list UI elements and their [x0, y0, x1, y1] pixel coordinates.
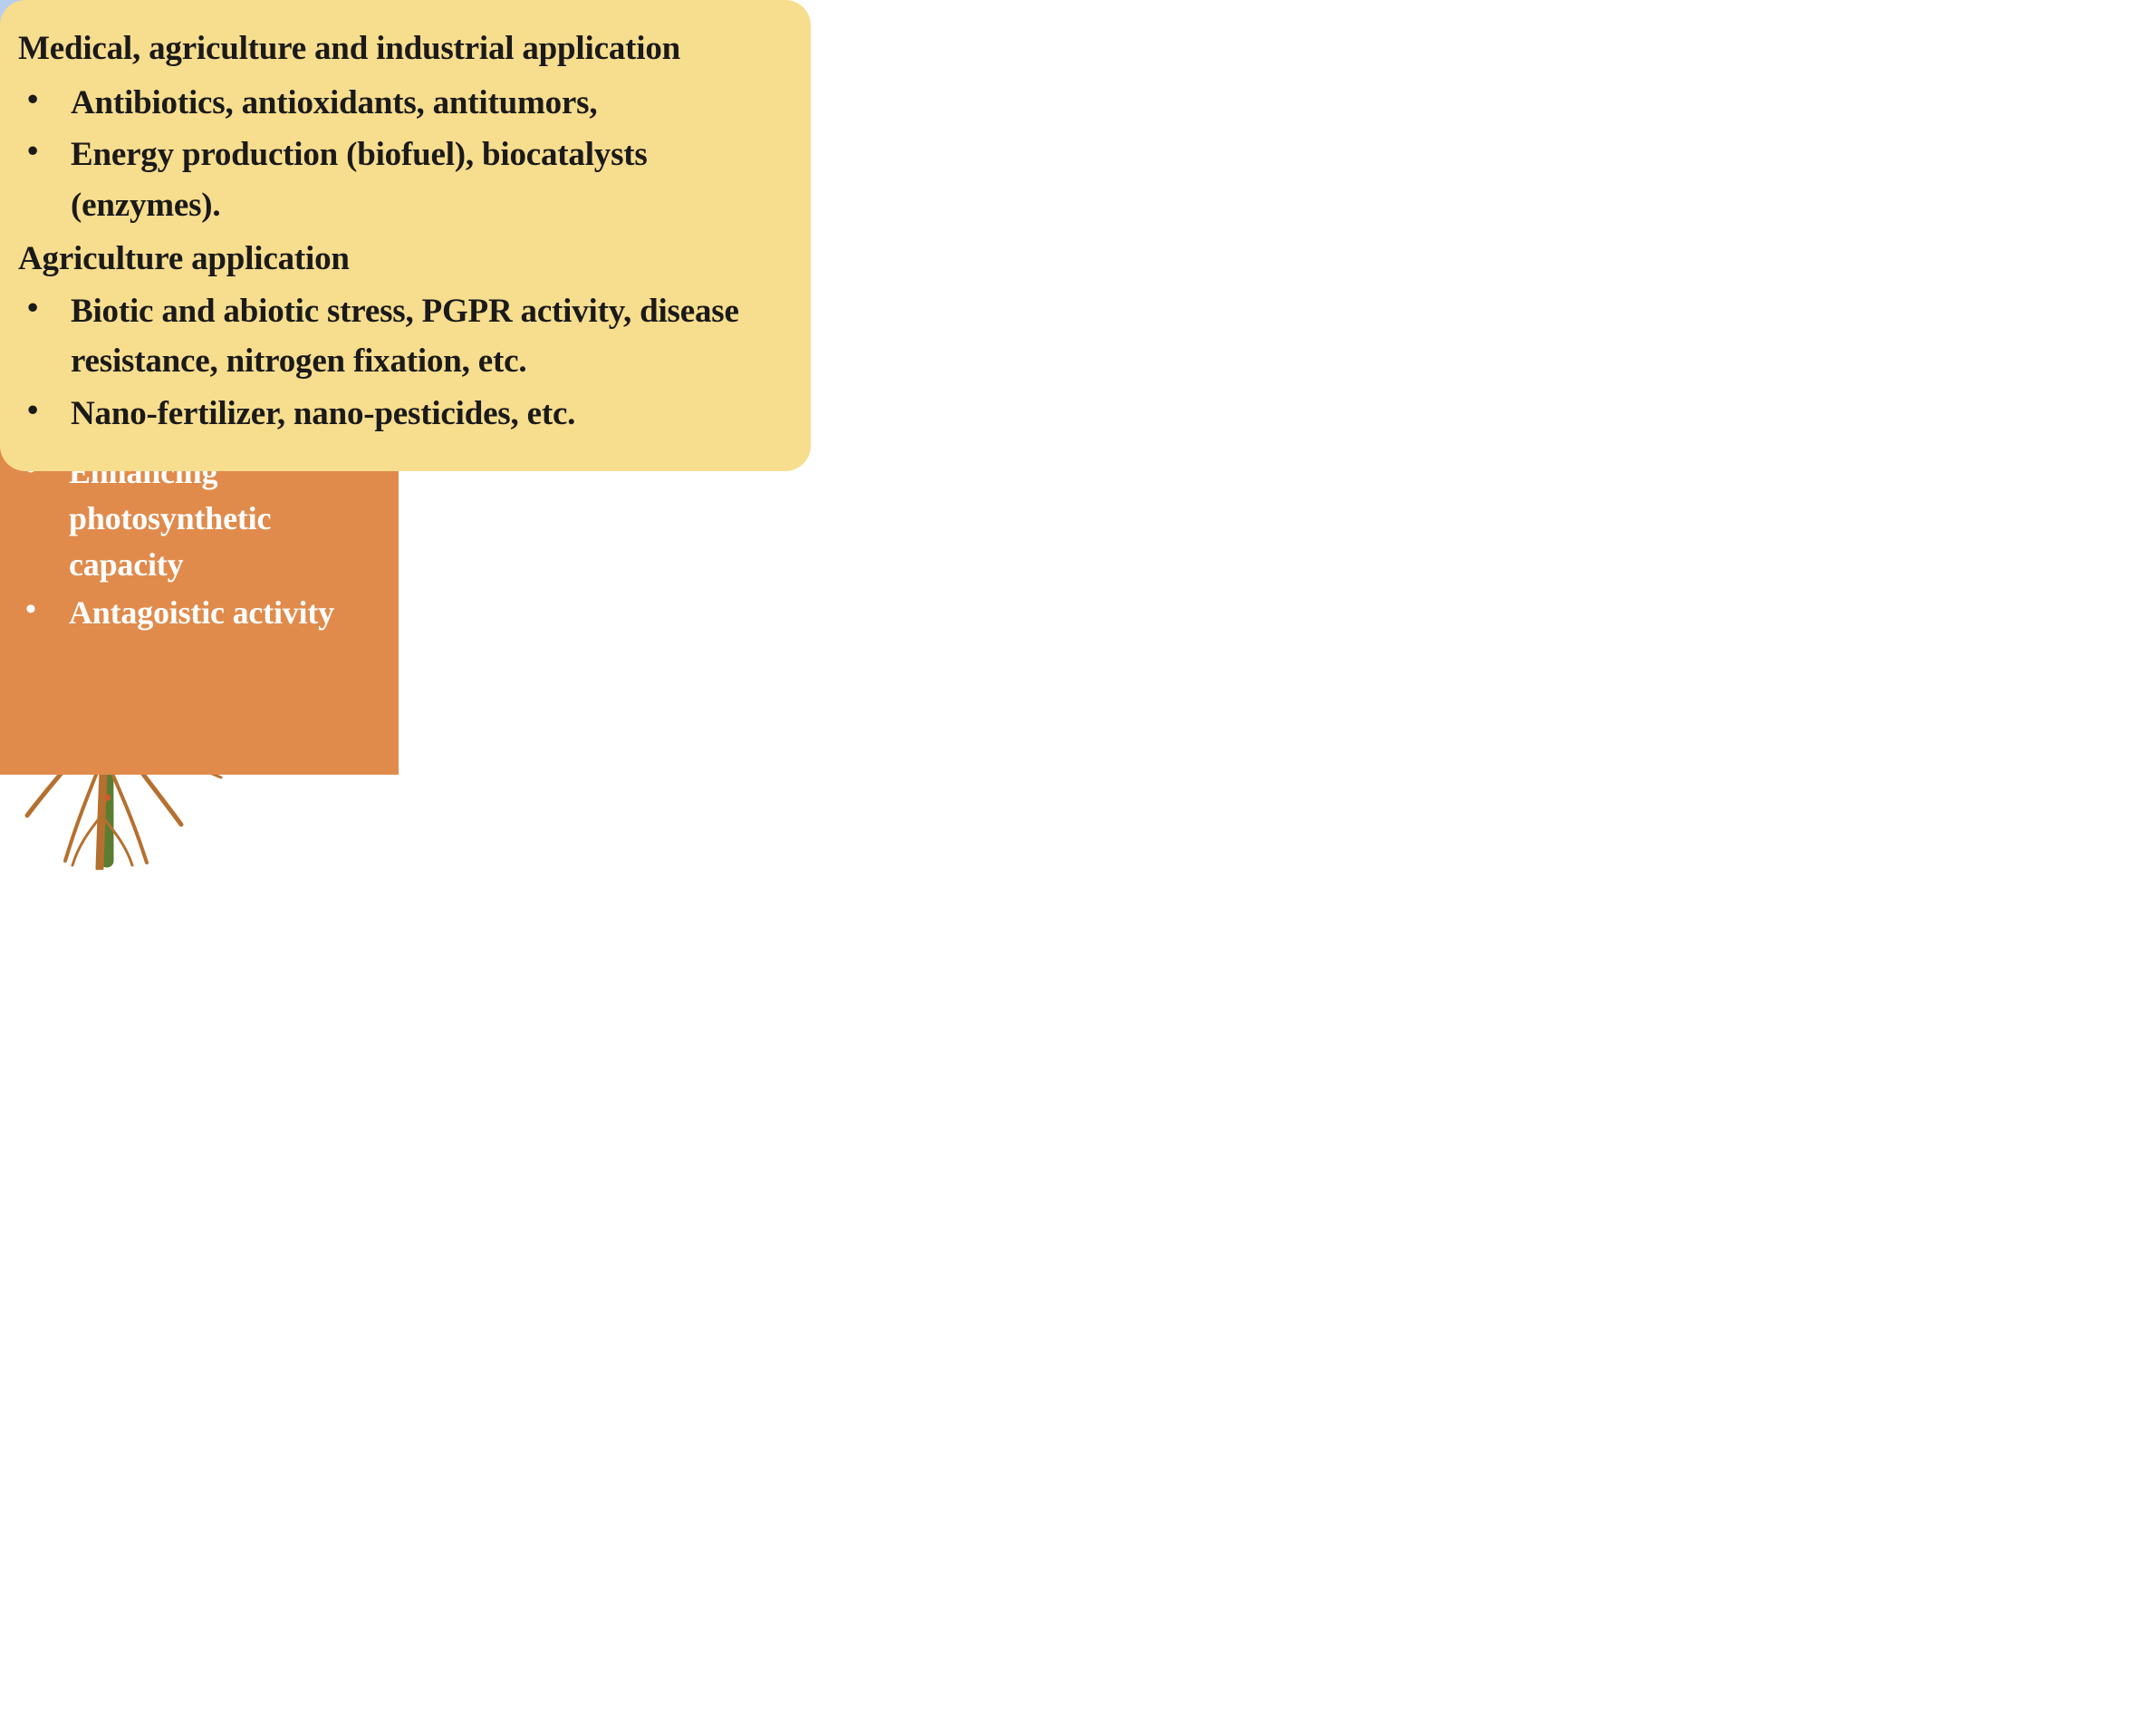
- box-applications[interactable]: Medical, agriculture and industrial appl…: [0, 0, 811, 471]
- application-item: Antibiotics, antioxidants, antitumors,: [18, 78, 798, 129]
- applications-heading: Medical, agriculture and industrial appl…: [18, 24, 798, 74]
- applications-subheading: Agriculture application: [18, 234, 798, 285]
- applications-list-agriculture: Biotic and abiotic stress, PGPR activity…: [18, 286, 798, 439]
- diagram-canvas: Colonization of bacterial endophytes in …: [0, 0, 2156, 1727]
- application-item: Biotic and abiotic stress, PGPR activity…: [18, 286, 798, 387]
- application-item: Energy production (biofuel), biocatalyst…: [18, 130, 798, 230]
- applications-list-industrial: Antibiotics, antioxidants, antitumors, E…: [18, 78, 798, 231]
- application-item: Nano-fertilizer, nano-pesticides, etc.: [18, 389, 798, 439]
- stress-item: Antagoistic activity: [16, 590, 386, 636]
